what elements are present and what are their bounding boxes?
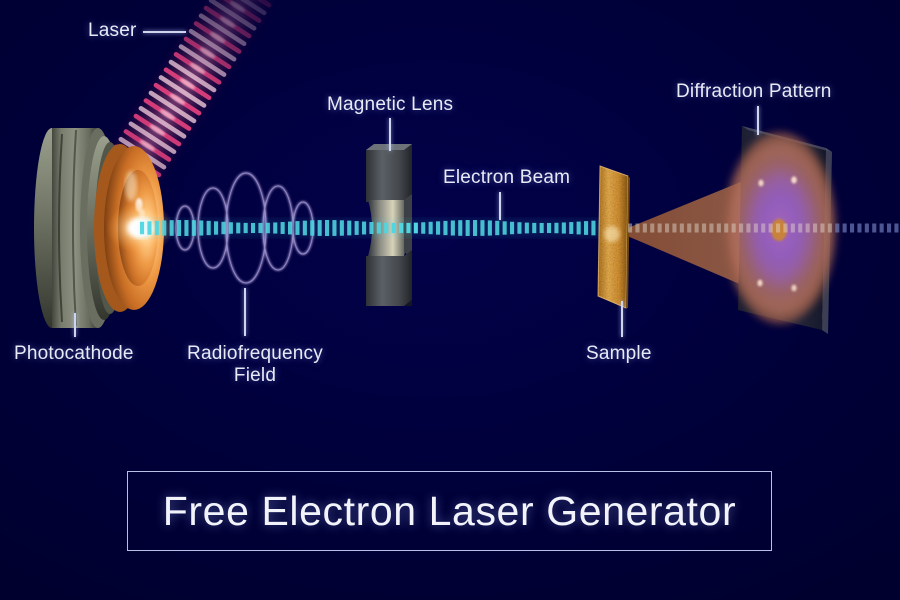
label-diffraction-pattern: Diffraction Pattern: [676, 81, 832, 103]
electron-beam: [140, 219, 620, 237]
label-photocathode: Photocathode: [14, 343, 134, 365]
diffraction-screen: [724, 126, 836, 334]
diagram-canvas: Laser Photocathode Radiofrequency Field …: [0, 0, 900, 600]
leader-electron-beam: [499, 192, 501, 220]
electron-beam-exit: [628, 224, 899, 233]
leader-diffraction-pattern: [757, 106, 759, 135]
leader-magnetic-lens: [389, 118, 391, 151]
label-electron-beam: Electron Beam: [443, 167, 570, 189]
leader-sample: [621, 301, 623, 337]
laser-beam: [47, 0, 282, 276]
photocathode: [34, 128, 174, 328]
sample: [598, 166, 630, 308]
leader-photocathode: [74, 313, 76, 337]
label-radiofrequency-field: Radiofrequency Field: [181, 343, 329, 388]
label-laser: Laser: [88, 20, 137, 42]
diffraction-cone: [618, 148, 824, 320]
leader-radiofrequency: [244, 288, 246, 336]
radiofrequency-field: [176, 173, 313, 283]
page-title: Free Electron Laser Generator: [163, 488, 736, 535]
label-sample: Sample: [586, 343, 652, 365]
label-magnetic-lens: Magnetic Lens: [327, 94, 453, 116]
leader-laser: [143, 31, 186, 33]
title-box: Free Electron Laser Generator: [127, 471, 772, 551]
magnetic-lens: [366, 144, 412, 306]
